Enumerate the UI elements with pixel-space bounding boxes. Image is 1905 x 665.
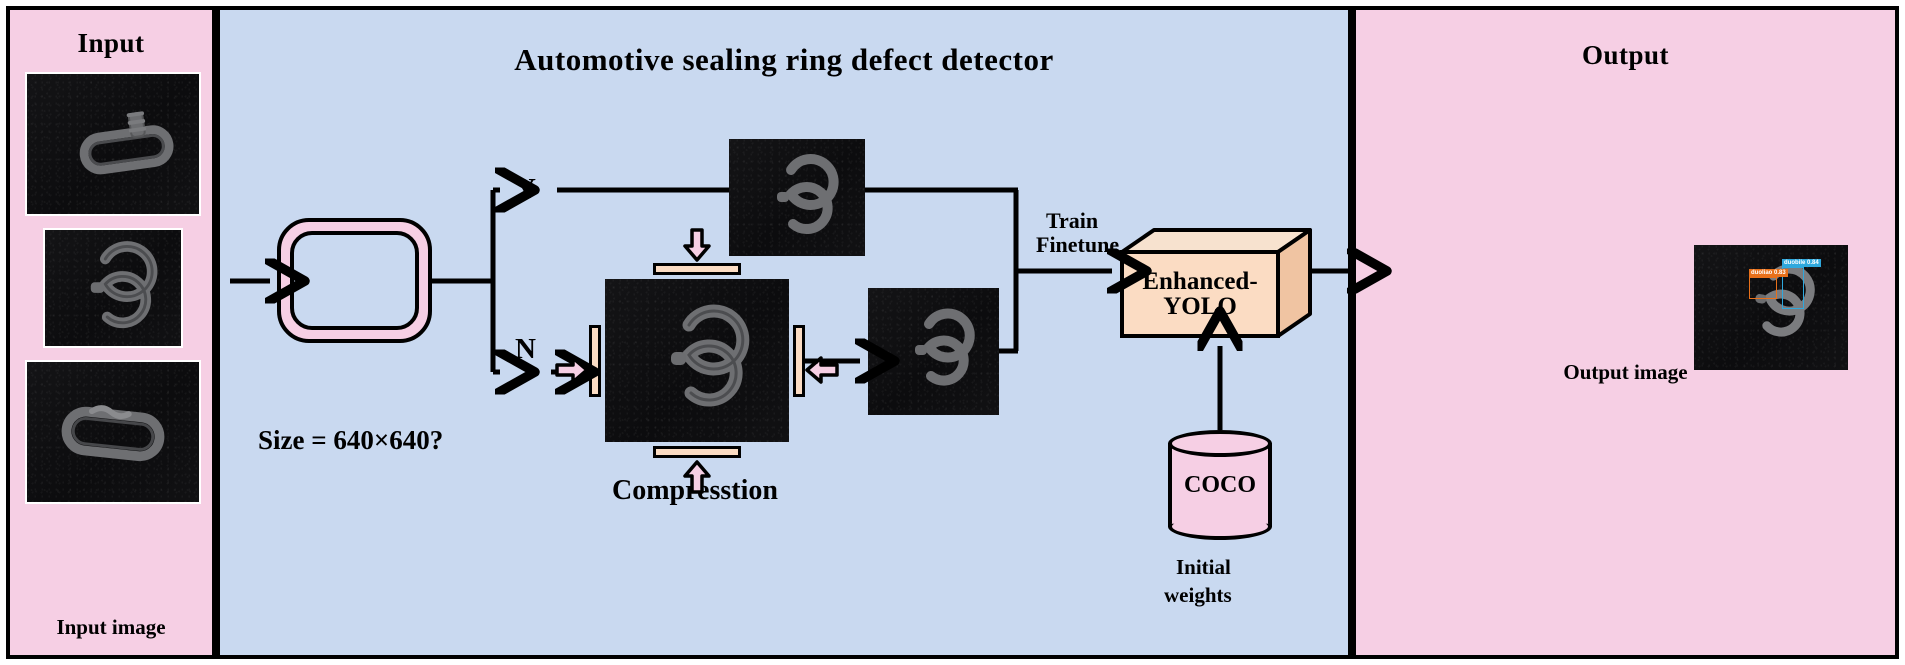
compression-bar-right [793,325,805,397]
input-panel: Input [6,6,216,659]
compression-bar-top [653,263,741,275]
oval-ring-with-stud-icon [27,74,199,214]
input-panel-title: Input [10,28,212,59]
model-line-1: Enhanced- [1142,269,1257,295]
decision-label: Size = 640×640? [258,425,443,456]
detection-cyan-label: duobile 0.84 [1782,259,1821,267]
resized-photo-top [729,139,865,256]
input-photo-2 [43,228,183,348]
weights-caption-line-1: Initial [1176,555,1231,580]
train-label: Train [1046,208,1098,234]
input-photo-1 [25,72,201,216]
branch-no-label: N [515,333,536,366]
enhanced-yolo-box: Enhanced- YOLO [1120,228,1312,338]
branch-yes-label: Y [515,173,536,206]
input-photo-3 [25,360,201,504]
size-decision-node [277,218,432,343]
coco-weights-cylinder: COCO [1168,430,1272,540]
model-line-2: YOLO [1163,294,1237,320]
main-panel-title: Automotive sealing ring defect detector [220,42,1348,78]
compressed-photo-right [868,288,999,415]
compression-bar-bottom [653,446,741,458]
c-hook-icon [729,139,865,256]
input-panel-caption: Input image [10,615,212,640]
decision-inner-frame [290,231,419,330]
oval-ring-defect-icon [27,362,199,502]
detection-orange-label: duoliao 0.83 [1749,269,1788,277]
output-panel-title: Output [1356,40,1895,71]
c-hook-icon [605,279,789,442]
detection-orange-box [1749,277,1777,299]
weights-caption-line-2: weights [1164,583,1232,608]
finetune-label: Finetune [1036,232,1119,258]
output-photo: duobile 0.84 duoliao 0.83 [1694,245,1848,370]
coco-label: COCO [1168,430,1272,540]
compression-bar-left [589,325,601,397]
c-hook-icon [868,288,999,415]
diagram-root: Input [0,0,1905,665]
compression-photo-large [605,279,789,442]
c-hook-icon [1694,245,1848,370]
c-hook-icon [45,230,181,346]
enhanced-yolo-text: Enhanced- YOLO [1120,250,1280,338]
compression-label: Compresstion [612,475,778,507]
